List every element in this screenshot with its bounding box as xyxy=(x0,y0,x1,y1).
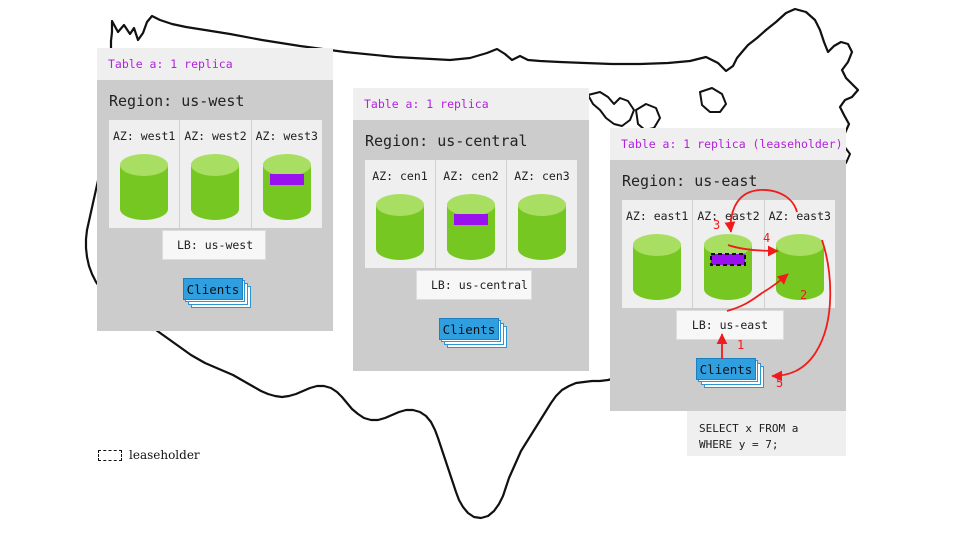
region-panel-us-east: Table a: 1 replica (leaseholder) Region:… xyxy=(610,128,846,411)
az-label: AZ: west2 xyxy=(184,129,246,143)
region-title: Region: us-central xyxy=(353,120,589,160)
range-bar xyxy=(454,214,488,225)
region-header-label: Table a: 1 replica (leaseholder) xyxy=(610,128,846,160)
load-balancer-us-west[interactable]: LB: us-west xyxy=(162,230,266,260)
az-label: AZ: cen2 xyxy=(443,169,498,183)
clients-stack-us-west[interactable]: Clients xyxy=(183,278,251,308)
az-cell-west2[interactable]: AZ: west2 xyxy=(180,120,251,228)
az-label: AZ: east3 xyxy=(769,209,831,223)
flow-step-number-5: 5 xyxy=(776,376,783,390)
az-cell-cen1[interactable]: AZ: cen1 xyxy=(365,160,436,268)
az-label: AZ: west1 xyxy=(113,129,175,143)
clients-button[interactable]: Clients xyxy=(183,278,243,300)
az-row: AZ: cen1 AZ: cen2 xyxy=(365,160,577,268)
clients-stack-us-east[interactable]: Clients xyxy=(696,358,764,388)
az-cell-cen3[interactable]: AZ: cen3 xyxy=(507,160,577,268)
flow-step-number-2: 2 xyxy=(800,288,807,302)
az-cell-east2[interactable]: AZ: east2 xyxy=(693,200,764,308)
replica-cylinder-with-range[interactable] xyxy=(261,153,313,221)
az-cell-west1[interactable]: AZ: west1 xyxy=(109,120,180,228)
az-cell-cen2[interactable]: AZ: cen2 xyxy=(436,160,507,268)
region-panel-us-central: Table a: 1 replica Region: us-central AZ… xyxy=(353,88,589,371)
clients-stack-us-central[interactable]: Clients xyxy=(439,318,507,348)
clients-button[interactable]: Clients xyxy=(696,358,756,380)
sql-query-box: SELECT x FROM a WHERE y = 7; xyxy=(687,411,846,456)
region-header-label: Table a: 1 replica xyxy=(97,48,333,80)
legend-label: leaseholder xyxy=(129,448,200,462)
leaseholder-range-bar xyxy=(711,254,745,265)
az-cell-west3[interactable]: AZ: west3 xyxy=(252,120,322,228)
flow-step-number-3: 3 xyxy=(713,218,720,232)
region-title: Region: us-west xyxy=(97,80,333,120)
az-row: AZ: west1 AZ: west2 AZ: xyxy=(109,120,321,228)
flow-step-number-1: 1 xyxy=(737,338,744,352)
diagram-canvas: Table a: 1 replica Region: us-west AZ: w… xyxy=(0,0,960,540)
clients-button[interactable]: Clients xyxy=(439,318,499,340)
leaseholder-swatch-icon xyxy=(98,450,122,461)
az-label: AZ: cen1 xyxy=(372,169,427,183)
flow-step-number-4: 4 xyxy=(763,231,770,245)
az-label: AZ: cen3 xyxy=(514,169,569,183)
range-bar xyxy=(270,174,304,185)
legend-leaseholder: leaseholder xyxy=(98,448,200,462)
replica-cylinder[interactable] xyxy=(631,233,683,301)
region-panel-us-west: Table a: 1 replica Region: us-west AZ: w… xyxy=(97,48,333,331)
replica-cylinder[interactable] xyxy=(118,153,170,221)
replica-cylinder[interactable] xyxy=(516,193,568,261)
leaseholder-cylinder[interactable] xyxy=(702,233,754,301)
region-title: Region: us-east xyxy=(610,160,846,200)
replica-cylinder[interactable] xyxy=(189,153,241,221)
az-cell-east1[interactable]: AZ: east1 xyxy=(622,200,693,308)
load-balancer-us-east[interactable]: LB: us-east xyxy=(676,310,784,340)
az-label: AZ: east1 xyxy=(626,209,688,223)
region-header-label: Table a: 1 replica xyxy=(353,88,589,120)
az-label: AZ: east2 xyxy=(697,209,759,223)
az-label: AZ: west3 xyxy=(256,129,318,143)
load-balancer-us-central[interactable]: LB: us-central xyxy=(416,270,532,300)
replica-cylinder[interactable] xyxy=(374,193,426,261)
replica-cylinder-with-range[interactable] xyxy=(445,193,497,261)
